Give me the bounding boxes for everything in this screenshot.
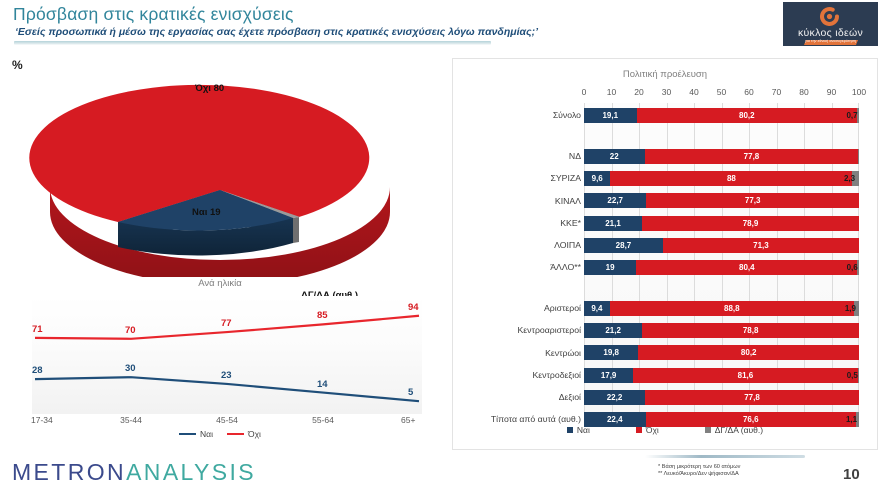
bar-chart-title: Πολιτική προέλευση (453, 69, 877, 80)
bar-segment-ochi: 77,3 (646, 193, 859, 208)
legend-label: Ναι (200, 429, 213, 439)
line-chart-legend: ΝαιΌχι (8, 429, 432, 439)
bar-value-label: 22,7 (607, 196, 623, 205)
bar-value-label: 81,6 (738, 371, 754, 380)
footer-divider (645, 455, 805, 458)
table-row[interactable]: 21,278,8 (584, 323, 859, 338)
line-point-label: 14 (317, 379, 328, 390)
footnote-2: ** Λευκό/Άκυρο/Δεν ψήφισαν/ΔΑ (658, 471, 740, 478)
bar-row-label: Δεξιοί (559, 392, 581, 403)
line-point-label: 23 (221, 370, 232, 381)
bar-row-label: Αριστεροί (544, 303, 581, 314)
bar-row-label: ΆΛΛΟ** (550, 262, 581, 273)
legend-label: ΔΓ/ΔΑ (αυθ.) (715, 425, 763, 435)
bar-chart-legend: ΝαιΌχιΔΓ/ΔΑ (αυθ.) (453, 425, 877, 435)
line-chart-title: Ανά ηλικία (8, 278, 432, 289)
bar-segment-ochi: 77,8 (645, 149, 859, 164)
line-chart-x-tick: 55-64 (312, 415, 334, 425)
table-row[interactable]: 28,771,3 (584, 238, 859, 253)
pie-label-nai: Ναι 19 (192, 207, 221, 218)
bar-segment-ochi: 80,2 (638, 345, 859, 360)
table-row[interactable]: 22,777,3 (584, 193, 859, 208)
bar-row-label: Κεντροδεξιοί (532, 370, 581, 381)
bar-chart-x-tick: 50 (717, 87, 726, 97)
bar-value-label: 1,9 (845, 304, 856, 313)
bar-chart-x-tick: 90 (827, 87, 836, 97)
bar-segment-ochi: 81,6 (633, 368, 857, 383)
table-row[interactable]: 19,880,2 (584, 345, 859, 360)
bar-value-label: 9,4 (591, 304, 602, 313)
bar-value-label: 80,2 (741, 348, 757, 357)
bar-value-label: 88,8 (724, 304, 740, 313)
line-legend-item[interactable]: Όχι (227, 429, 261, 439)
bar-legend-item[interactable]: ΔΓ/ΔΑ (αυθ.) (705, 425, 763, 435)
legend-swatch (636, 427, 642, 433)
bar-row-label: Κεντρώοι (545, 348, 581, 359)
line-chart-x-tick: 45-54 (216, 415, 238, 425)
bar-value-label: 19 (606, 263, 615, 272)
bar-segment-nai: 21,2 (584, 323, 642, 338)
bar-segment-ochi: 78,8 (642, 323, 859, 338)
bar-segment-ochi: 77,8 (645, 390, 859, 405)
pie-chart: Όχι 80 Ναι 19 ΔΓ/ΔΑ (αυθ.) 1 (10, 62, 430, 277)
pie-chart-graphic (10, 62, 430, 277)
bar-value-label: 22,4 (607, 415, 623, 424)
logo-metron: METRON (12, 459, 126, 485)
page-subtitle: ‘Εσείς προσωπικά ή μέσω της εργασίας σας… (15, 26, 538, 38)
bar-segment-dg: 2,3 (852, 171, 858, 186)
metron-analysis-logo: METRONANALYSIS (12, 459, 256, 486)
bar-value-label: 78,8 (743, 326, 759, 335)
legend-label: Ναι (577, 425, 590, 435)
line-chart-graphic (32, 296, 422, 414)
bar-value-label: 77,8 (744, 152, 760, 161)
bar-legend-item[interactable]: Ναι (567, 425, 590, 435)
title-divider (14, 41, 491, 45)
table-row[interactable]: 2277,8 (584, 149, 859, 164)
bar-legend-item[interactable]: Όχι (636, 425, 659, 435)
bar-row-label: Κεντροαριστεροί (518, 325, 581, 336)
bar-row-label: Τίποτα από αυτά (αυθ.) (491, 414, 581, 425)
bar-segment-dg: 0,5 (858, 368, 859, 383)
bar-segment-nai: 19 (584, 260, 636, 275)
bar-value-label: 21,1 (605, 219, 621, 228)
line-point-label: 94 (408, 302, 419, 313)
bar-segment-dg (858, 149, 859, 164)
bar-segment-ochi: 78,9 (642, 216, 859, 231)
bar-value-label: 76,6 (743, 415, 759, 424)
bar-chart-x-tick: 60 (744, 87, 753, 97)
table-row[interactable]: 9,6882,3 (584, 171, 859, 186)
line-chart: Ανά ηλικία 2830231457170778594 17-3435-4… (8, 278, 432, 450)
bar-value-label: 0,5 (847, 371, 858, 380)
bar-segment-nai: 22,7 (584, 193, 646, 208)
bar-chart-plot: 19,180,20,72277,89,6882,322,777,321,178,… (584, 103, 859, 420)
line-point-label: 28 (32, 365, 43, 376)
bar-value-label: 80,4 (739, 263, 755, 272)
bar-chart-x-tick: 10 (607, 87, 616, 97)
line-point-label: 5 (408, 387, 413, 398)
bar-chart-x-tick: 20 (634, 87, 643, 97)
line-chart-x-tick: 35-44 (120, 415, 142, 425)
bar-segment-nai: 21,1 (584, 216, 642, 231)
bar-segment-nai: 9,6 (584, 171, 610, 186)
legend-label: Όχι (248, 429, 261, 439)
table-row[interactable]: 9,488,81,9 (584, 301, 859, 316)
bar-segment-nai: 19,8 (584, 345, 638, 360)
bar-value-label: 22,2 (607, 393, 623, 402)
table-row[interactable]: 17,981,60,5 (584, 368, 859, 383)
bar-segment-nai: 22 (584, 149, 645, 164)
line-point-label: 70 (125, 325, 136, 336)
footnotes: * Βάση μικρότερη των 60 ατόμων ** Λευκό/… (658, 464, 740, 479)
brand-name: κύκλος ιδεών (783, 27, 878, 39)
legend-line-swatch (179, 433, 196, 435)
bar-chart-x-tick: 40 (689, 87, 698, 97)
bar-segment-nai: 19,1 (584, 108, 637, 123)
bar-segment-nai: 9,4 (584, 301, 610, 316)
bar-row-label: ΚΚΕ* (560, 218, 581, 229)
bar-value-label: 19,8 (603, 348, 619, 357)
legend-line-swatch (227, 433, 244, 435)
bar-value-label: 0,6 (847, 263, 858, 272)
bar-segment-ochi: 88,8 (610, 301, 854, 316)
bar-value-label: 21,2 (605, 326, 621, 335)
bar-row-label: ΚΙΝΑΛ (555, 196, 581, 207)
brand-tagline: για την εθνική ανασυγκρότηση (783, 39, 878, 43)
brand-logo: κύκλος ιδεών για την εθνική ανασυγκρότησ… (783, 2, 878, 46)
bar-value-label: 77,3 (745, 196, 761, 205)
table-row[interactable]: 1980,40,6 (584, 260, 859, 275)
bar-value-label: 28,7 (616, 241, 632, 250)
legend-swatch (567, 427, 573, 433)
table-row[interactable]: 19,180,20,7 (584, 108, 859, 123)
bar-segment-dg: 0,7 (857, 108, 859, 123)
table-row[interactable]: 21,178,9 (584, 216, 859, 231)
bar-segment-dg: 1,9 (854, 301, 859, 316)
page-title: Πρόσβαση στις κρατικές ενισχύσεις (13, 4, 294, 25)
bar-row-label: ΣΥΡΙΖΑ (551, 173, 581, 184)
bar-row-label: Σύνολο (553, 110, 581, 121)
pie-label-ochi: Όχι 80 (195, 83, 224, 94)
bar-segment-nai: 22,2 (584, 390, 645, 405)
bar-segment-ochi: 80,4 (636, 260, 857, 275)
bar-segment-ochi: 80,2 (637, 108, 858, 123)
bar-value-label: 0,7 (846, 111, 857, 120)
bar-value-label: 2,3 (844, 174, 855, 183)
bar-segment-nai: 28,7 (584, 238, 663, 253)
bar-value-label: 9,6 (592, 174, 603, 183)
line-chart-plot (32, 296, 422, 414)
bar-row-label: ΛΟΙΠΑ (554, 240, 581, 251)
bar-row-label: ΝΔ (569, 151, 581, 162)
bar-chart-x-tick: 30 (662, 87, 671, 97)
bar-value-label: 17,9 (601, 371, 617, 380)
bar-chart-x-tick: 80 (799, 87, 808, 97)
page-number: 10 (843, 466, 860, 483)
bar-value-label: 78,9 (743, 219, 759, 228)
bar-segment-dg: 0,6 (857, 260, 859, 275)
line-point-label: 71 (32, 324, 43, 335)
bar-segment-ochi: 88 (610, 171, 852, 186)
orange-circle-swirl-icon (818, 5, 841, 28)
bar-segment-nai: 17,9 (584, 368, 633, 383)
bar-value-label: 1,1 (846, 415, 857, 424)
line-point-label: 85 (317, 310, 328, 321)
bar-value-label: 19,1 (602, 111, 618, 120)
table-row[interactable]: 22,277,8 (584, 390, 859, 405)
bar-segment-ochi: 71,3 (663, 238, 859, 253)
bar-value-label: 71,3 (753, 241, 769, 250)
bar-value-label: 77,8 (744, 393, 760, 402)
line-point-label: 77 (221, 318, 232, 329)
bar-chart-x-tick: 0 (582, 87, 587, 97)
bar-value-label: 22 (610, 152, 619, 161)
legend-swatch (705, 427, 711, 433)
line-legend-item[interactable]: Ναι (179, 429, 213, 439)
bar-chart-x-tick: 70 (772, 87, 781, 97)
bar-value-label: 80,2 (739, 111, 755, 120)
legend-label: Όχι (646, 425, 659, 435)
line-chart-x-tick: 17-34 (31, 415, 53, 425)
bar-chart-panel: Πολιτική προέλευση 010203040506070809010… (452, 58, 878, 450)
bar-chart-x-axis: 0102030405060708090100 (584, 87, 859, 101)
line-point-label: 30 (125, 363, 136, 374)
bar-value-label: 88 (727, 174, 736, 183)
bar-chart-x-tick: 100 (852, 87, 866, 97)
line-chart-x-tick: 65+ (401, 415, 415, 425)
logo-analysis: ANALYSIS (126, 459, 256, 485)
